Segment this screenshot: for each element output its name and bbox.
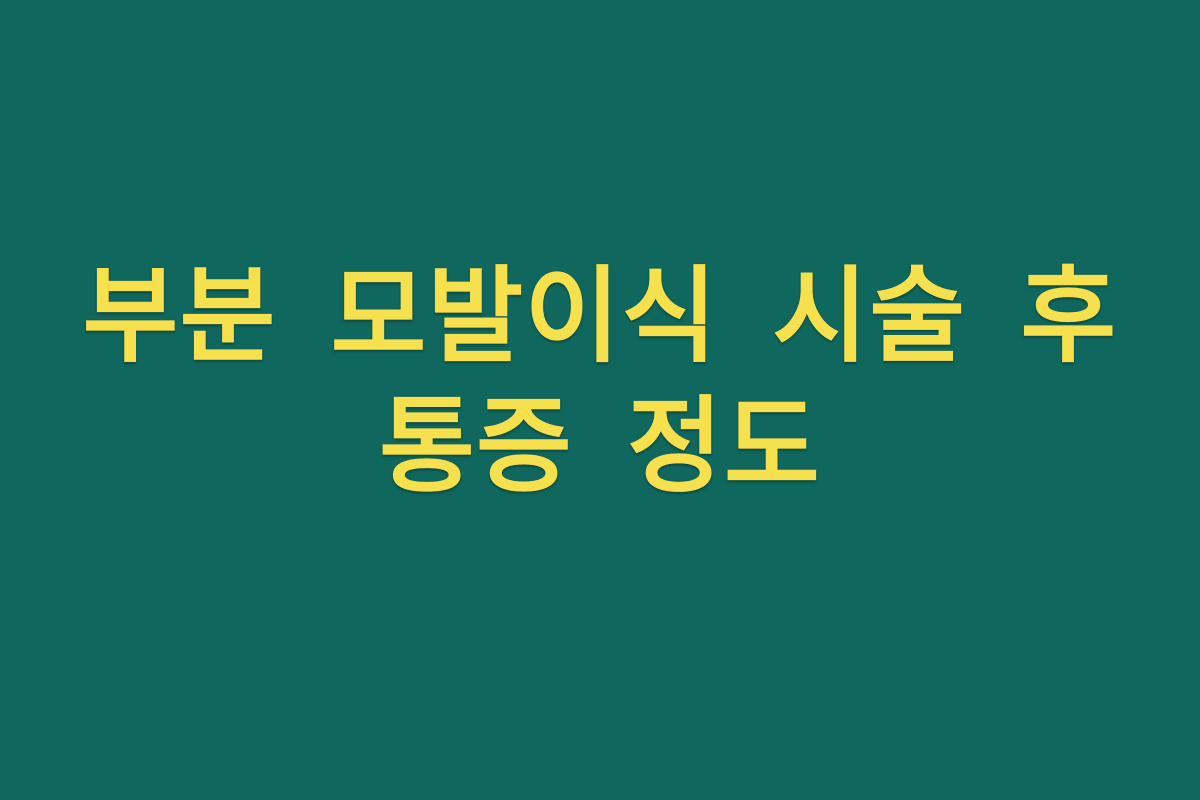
headline-block: 부분 모발이식 시술 후 통증 정도 — [0, 251, 1200, 511]
banner-canvas: 부분 모발이식 시술 후 통증 정도 — [0, 0, 1200, 800]
headline-line-2: 통증 정도 — [0, 381, 1200, 511]
headline-line-1: 부분 모발이식 시술 후 — [0, 251, 1200, 381]
